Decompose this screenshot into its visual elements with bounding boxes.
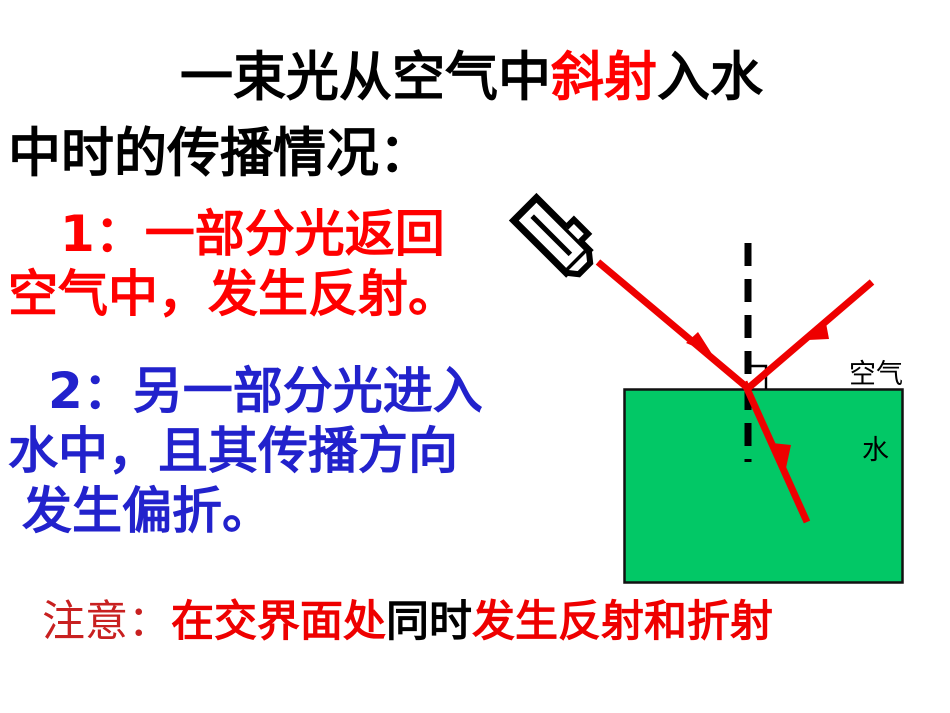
point-2-line-1: 2：另一部分光进入	[48, 365, 483, 417]
slide-canvas: 空气 水 一束光从空气中斜射入水 中时的传播情况： 1：一部分光返回 空气中，发…	[0, 0, 950, 713]
point-1-line-2: 空气中，发生反射。	[8, 268, 458, 320]
label-air: 空气	[849, 352, 903, 391]
point-2-line-3: 发生偏折。	[22, 485, 272, 537]
label-water: 水	[862, 428, 889, 467]
title-suffix: 入水	[657, 47, 763, 108]
page-title-line-1: 一束光从空气中斜射入水	[180, 50, 763, 105]
note-prefix: 注意：	[42, 597, 171, 647]
note-black-emphasis: 同时	[386, 597, 472, 647]
note-red-first: 在交界面处	[171, 597, 386, 647]
title-accent-xieshe: 斜射	[551, 47, 657, 108]
point-2-line-2: 水中，且其传播方向	[8, 425, 458, 477]
note-red-second: 发生反射和折射	[472, 597, 773, 647]
note-line: 注意：在交界面处同时发生反射和折射	[42, 600, 773, 645]
page-title-line-2: 中时的传播情况：	[8, 126, 432, 181]
flashlight-icon	[514, 190, 604, 280]
incident-ray	[598, 262, 750, 390]
title-prefix: 一束光从空气中	[180, 47, 551, 108]
point-1-line-1: 1：一部分光返回	[60, 208, 445, 260]
